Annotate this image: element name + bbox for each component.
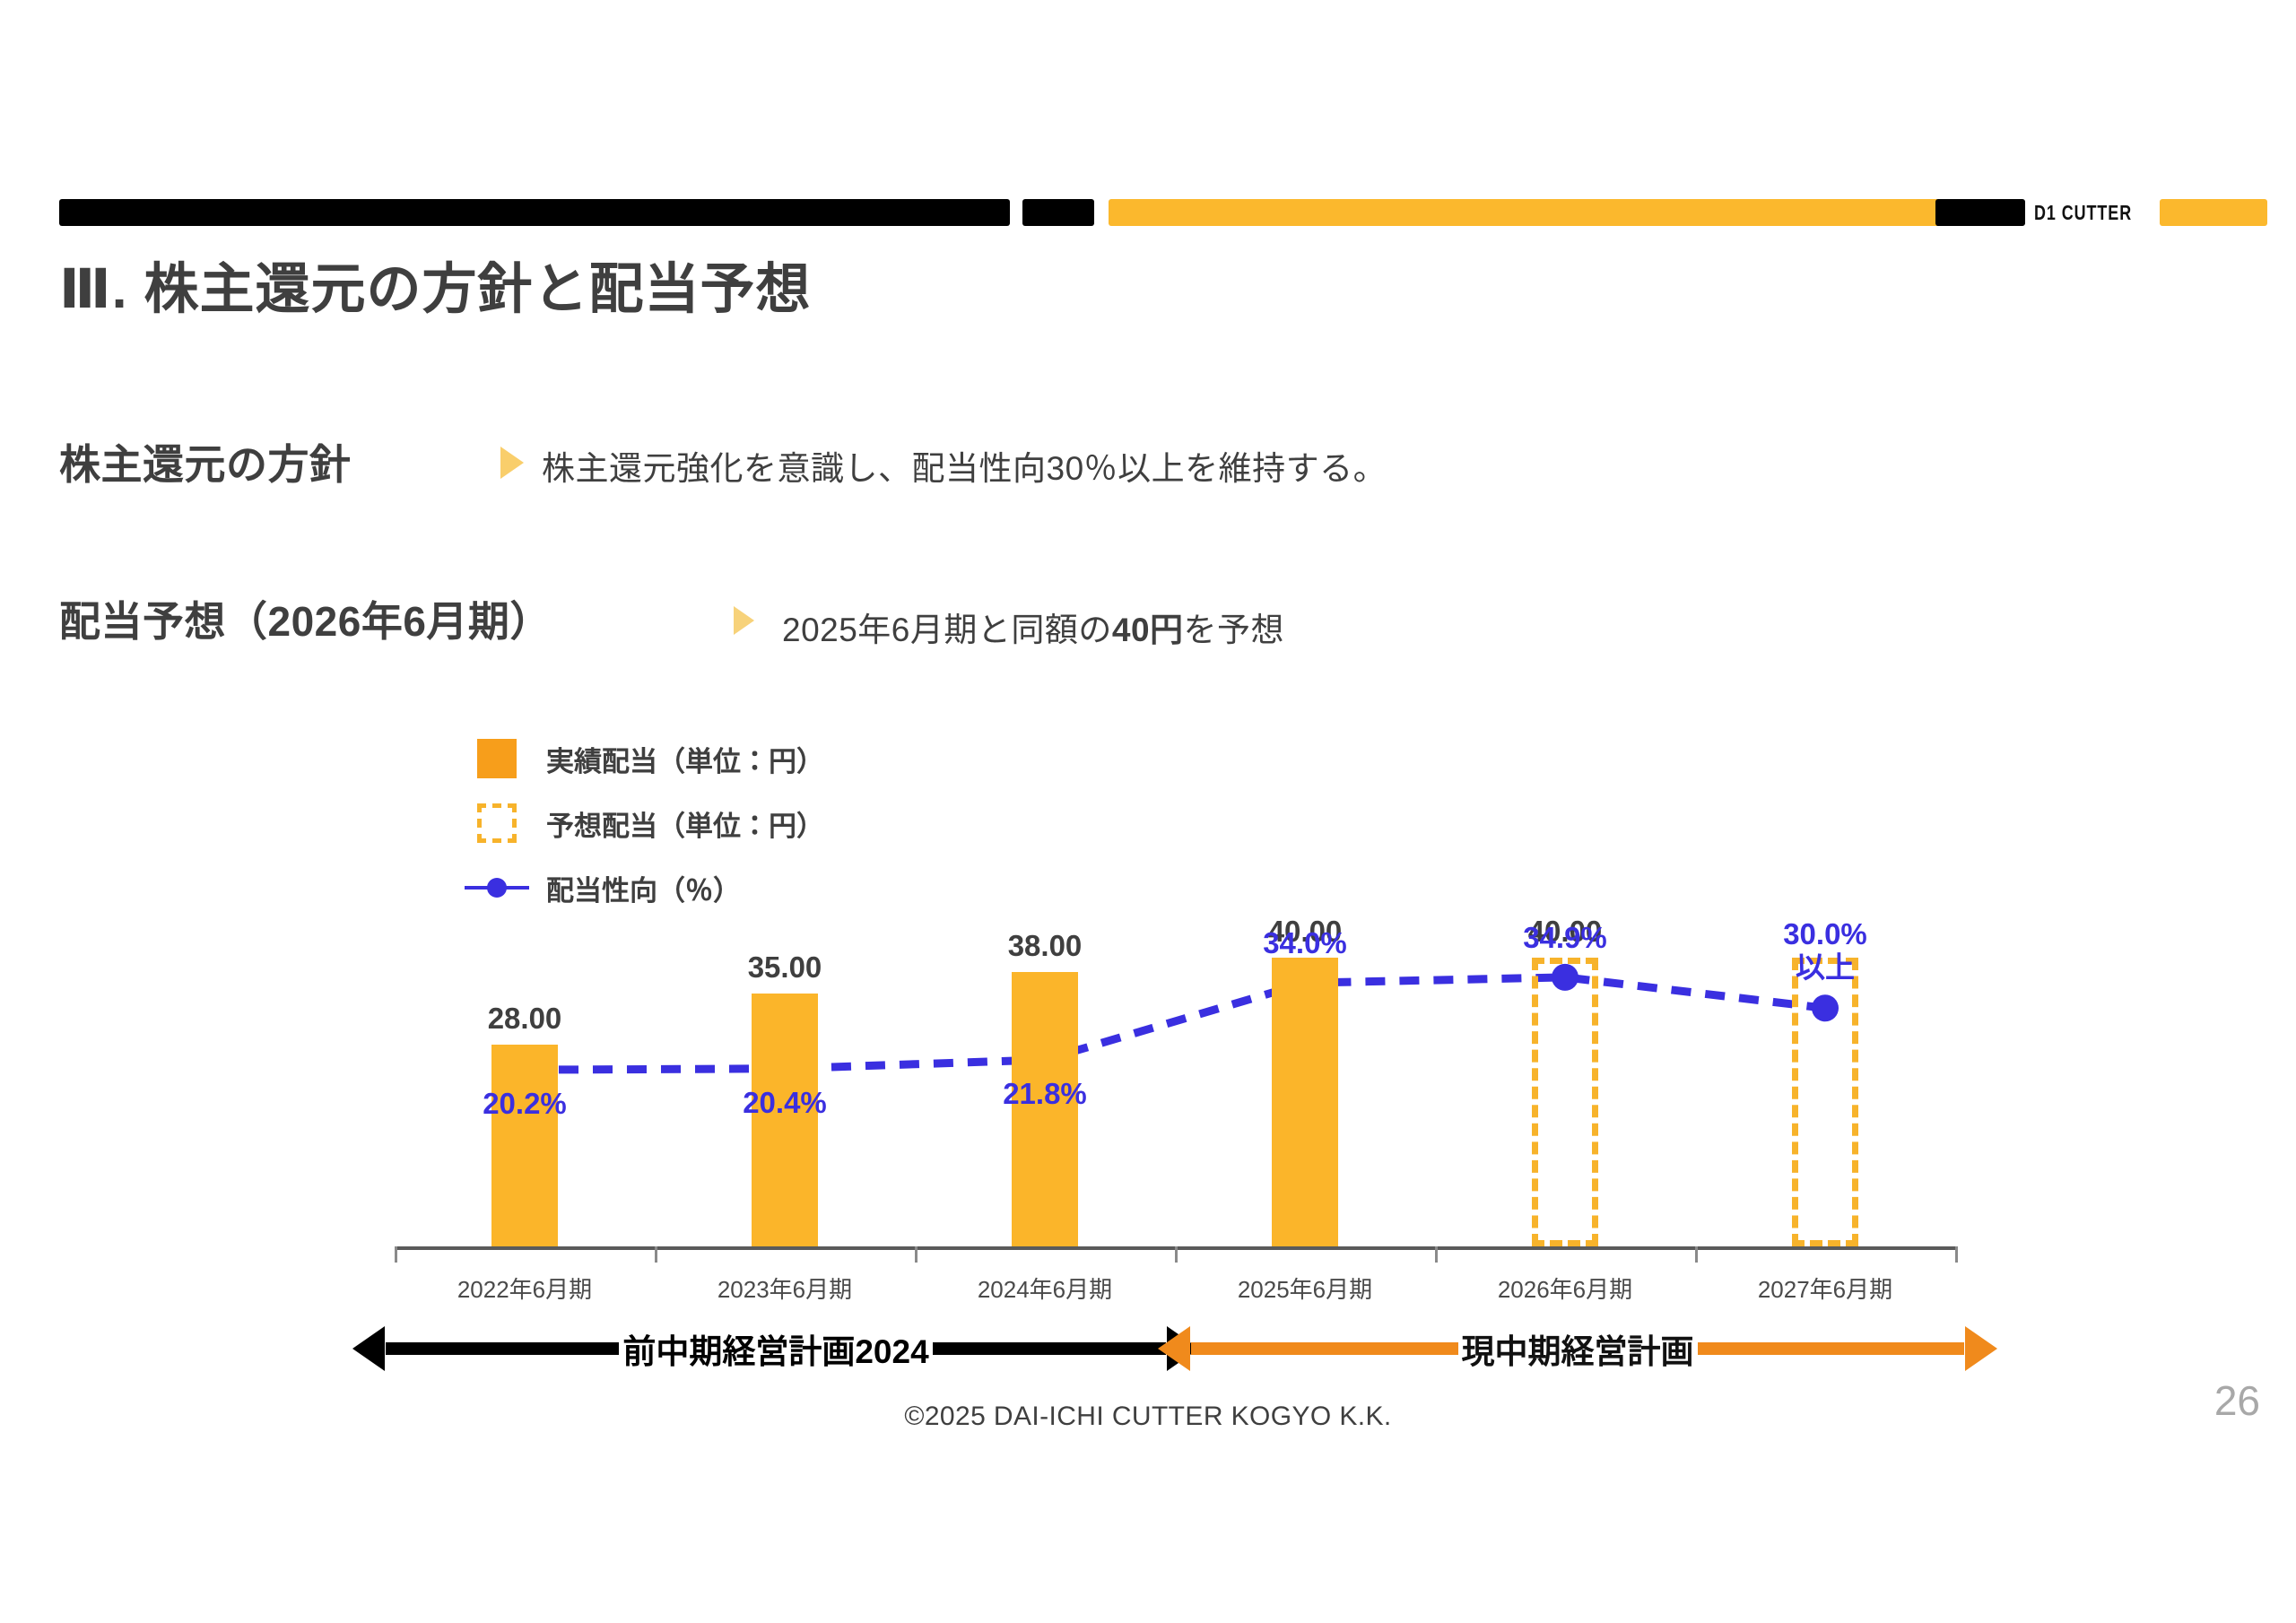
x-axis-tick	[655, 1246, 657, 1263]
arrow-shaft	[386, 1342, 619, 1355]
x-axis-label: 2024年6月期	[910, 1271, 1179, 1305]
forecast-amount: 40円	[1112, 612, 1184, 648]
arrow-shaft	[1698, 1342, 1965, 1355]
forecast-heading: 配当予想（2026年6月期）	[59, 589, 552, 648]
page-title: Ⅲ. 株主還元の方針と配当予想	[59, 244, 812, 324]
actual-bar	[491, 1045, 558, 1246]
x-axis-label: 2022年6月期	[390, 1271, 659, 1305]
header-bar-segment-5	[2160, 199, 2267, 226]
x-axis-tick	[395, 1246, 397, 1263]
payout-ratio-label: 20.4%	[650, 1087, 919, 1120]
slide-root: D1 CUTTER Ⅲ. 株主還元の方針と配当予想 株主還元の方針 株主還元強化…	[0, 0, 2296, 1623]
plan-period-arrows: 前中期経営計画2024 現中期経営計画	[386, 1320, 1964, 1377]
x-axis-tick	[915, 1246, 918, 1263]
arrow-head-right-icon	[1965, 1326, 1997, 1371]
plan-arrow-previous: 前中期経営計画2024	[386, 1320, 1166, 1377]
actual-bar	[752, 994, 818, 1246]
dividend-chart: 実績配当（単位：円） 予想配当（単位：円） 配当性向（％） 28.002022年…	[395, 708, 1955, 1282]
x-axis-label: 2023年6月期	[650, 1271, 919, 1305]
payout-ratio-label: 30.0%以上	[1691, 918, 1960, 985]
arrow-shaft	[1191, 1342, 1458, 1355]
arrow-head-left-icon	[1158, 1326, 1190, 1371]
plan-arrow-current: 現中期経営計画	[1191, 1320, 1964, 1377]
page-number: 26	[2214, 1376, 2260, 1425]
x-axis-tick	[1955, 1246, 1958, 1263]
copyright-text: ©2025 DAI-ICHI CUTTER KOGYO K.K.	[0, 1402, 2296, 1432]
forecast-text-before: 2025年6月期と同額の	[782, 612, 1112, 648]
triangle-bullet-icon	[500, 447, 524, 479]
forecast-text-after: を予想	[1184, 612, 1285, 648]
forecast-bar	[1792, 958, 1858, 1246]
header-bar-segment-4	[1935, 199, 2025, 226]
payout-ratio-polyline	[525, 977, 1825, 1070]
header-bar-segment-3	[1109, 199, 2005, 226]
payout-ratio-label: 34.0%	[1170, 927, 1439, 960]
bar-value-label: 28.00	[390, 1002, 659, 1036]
header-bar-segment-1	[59, 199, 1010, 226]
triangle-bullet-icon	[734, 606, 754, 635]
bar-value-label: 35.00	[650, 950, 919, 985]
chart-plot-area: 28.002022年6月期20.2%35.002023年6月期20.4%38.0…	[395, 708, 1955, 1282]
header-decoration-bar	[0, 199, 2296, 226]
header-bar-segment-2	[1022, 199, 1094, 226]
x-axis-tick	[1695, 1246, 1698, 1263]
x-axis-label: 2027年6月期	[1691, 1271, 1960, 1305]
forecast-bar	[1532, 958, 1598, 1246]
forecast-text: 2025年6月期と同額の40円を予想	[782, 603, 1284, 651]
payout-ratio-label: 20.2%	[390, 1088, 659, 1121]
bar-value-label: 38.00	[910, 929, 1179, 963]
company-logo: D1 CUTTER	[2034, 198, 2125, 227]
x-axis-tick	[1175, 1246, 1178, 1263]
arrow-shaft	[933, 1342, 1166, 1355]
x-axis-label: 2025年6月期	[1170, 1271, 1439, 1305]
plan-label: 前中期経営計画2024	[619, 1324, 932, 1373]
payout-ratio-label: 21.8%	[910, 1078, 1179, 1111]
arrow-head-left-icon	[352, 1326, 385, 1371]
policy-text: 株主還元強化を意識し、配当性向30％以上を維持する。	[542, 441, 1387, 490]
payout-ratio-line	[395, 708, 1955, 1282]
x-axis-label: 2026年6月期	[1431, 1271, 1700, 1305]
payout-ratio-label: 34.9%	[1431, 922, 1700, 955]
plan-label: 現中期経営計画	[1458, 1324, 1698, 1373]
policy-heading: 株主還元の方針	[59, 432, 352, 491]
actual-bar	[1272, 958, 1338, 1246]
x-axis-tick	[1435, 1246, 1438, 1263]
